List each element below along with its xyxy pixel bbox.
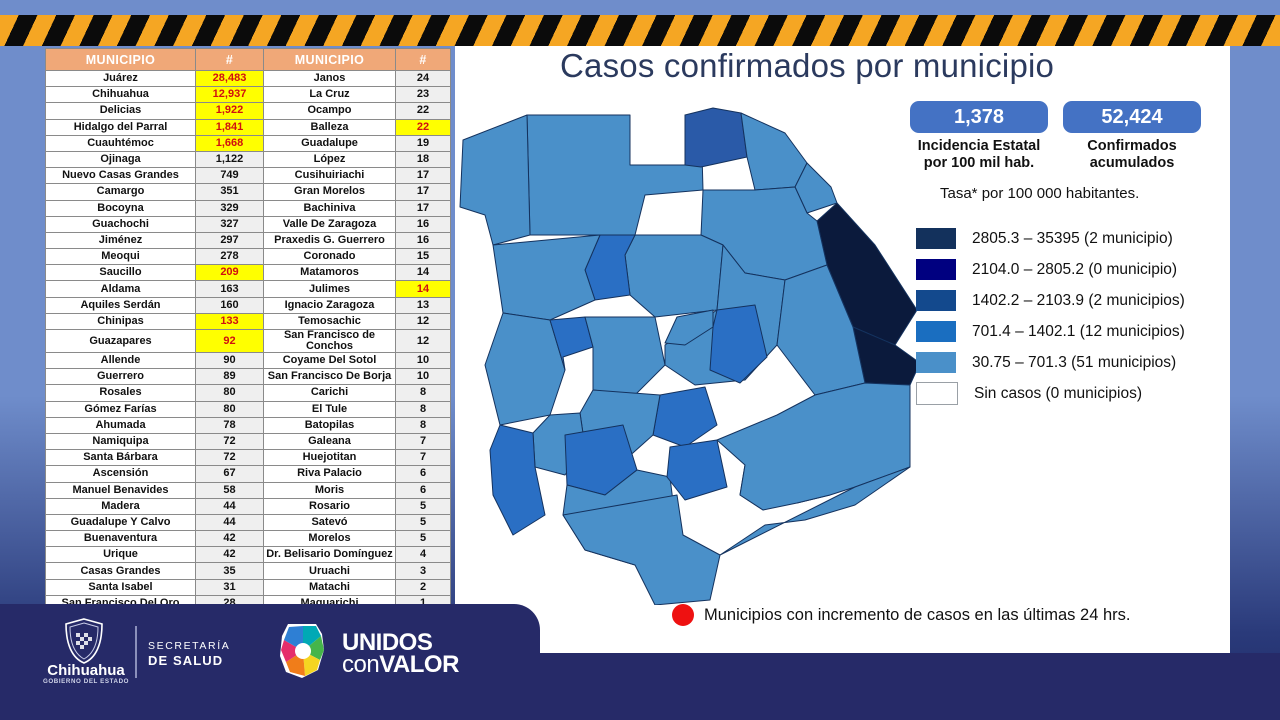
table-cell-municipio: Guerrero <box>46 369 196 385</box>
increase-note-text: Municipios con incremento de casos en la… <box>704 606 1130 625</box>
table-row: Chihuahua12,937La Cruz23 <box>46 87 451 103</box>
table-row: Chinipas133Temosachic12 <box>46 313 451 329</box>
table-cell-count: 14 <box>396 265 451 281</box>
table-cell-count: 23 <box>396 87 451 103</box>
chihuahua-subtitle: GOBIERNO DEL ESTADO <box>36 678 136 685</box>
table-cell-count: 80 <box>196 401 264 417</box>
table-cell-municipio: Madera <box>46 498 196 514</box>
table-cell-municipio: Valle De Zaragoza <box>264 216 396 232</box>
table-cell-municipio: El Tule <box>264 401 396 417</box>
table-cell-count: 8 <box>396 401 451 417</box>
secretaria-line2: DE SALUD <box>148 653 223 668</box>
table-cell-municipio: Huejotitan <box>264 450 396 466</box>
table-cell-municipio: Guazapares <box>46 330 196 353</box>
chihuahua-choropleth-map <box>455 95 925 605</box>
table-cell-count: 17 <box>396 184 451 200</box>
table-cell-municipio: Praxedis G. Guerrero <box>264 232 396 248</box>
chihuahua-shield-icon <box>64 618 104 664</box>
table-cell-municipio: Dr. Belisario Domínguez <box>264 547 396 563</box>
table-cell-municipio: Rosario <box>264 498 396 514</box>
table-cell-count: 72 <box>196 450 264 466</box>
table-cell-municipio: Coronado <box>264 249 396 265</box>
table-cell-municipio: Batopilas <box>264 417 396 433</box>
table-cell-municipio: Chinipas <box>46 313 196 329</box>
table-cell-count: 351 <box>196 184 264 200</box>
table-cell-municipio: Jiménez <box>46 232 196 248</box>
table-row: Guazapares92San Francisco de Conchos12 <box>46 330 451 353</box>
legend-label: 701.4 – 1402.1 (12 municipios) <box>972 323 1185 341</box>
table-column-header: MUNICIPIO <box>264 49 396 71</box>
table-cell-municipio: Matachi <box>264 579 396 595</box>
table-cell-municipio: Manuel Benavides <box>46 482 196 498</box>
table-cell-count: 16 <box>396 216 451 232</box>
table-cell-count: 7 <box>396 433 451 449</box>
red-dot-icon <box>672 604 694 626</box>
table-row: Meoqui278Coronado15 <box>46 249 451 265</box>
table-cell-municipio: Buenaventura <box>46 531 196 547</box>
table-cell-municipio: Balleza <box>264 119 396 135</box>
table-cell-count: 8 <box>396 417 451 433</box>
table-cell-municipio: Julimes <box>264 281 396 297</box>
table-column-header: # <box>196 49 264 71</box>
table-cell-municipio: Uruachi <box>264 563 396 579</box>
stat-caption-incidencia: Incidencia Estatal por 100 mil hab. <box>905 138 1053 172</box>
table-cell-municipio: López <box>264 151 396 167</box>
table-row: Gómez Farías80El Tule8 <box>46 401 451 417</box>
table-cell-municipio: Moris <box>264 482 396 498</box>
table-cell-municipio: Namiquipa <box>46 433 196 449</box>
legend-swatch <box>916 321 956 342</box>
table-row: Rosales80Carichi8 <box>46 385 451 401</box>
table-cell-municipio: Santa Isabel <box>46 579 196 595</box>
table-cell-count: 278 <box>196 249 264 265</box>
table-row: Juárez28,483Janos24 <box>46 71 451 87</box>
table-cell-count: 89 <box>196 369 264 385</box>
legend-row: 2104.0 – 2805.2 (0 municipio) <box>916 254 1185 285</box>
table-row: Ojinaga1,122López18 <box>46 151 451 167</box>
municipality-table: MUNICIPIO#MUNICIPIO# Juárez28,483Janos24… <box>45 48 451 628</box>
table-row: Casas Grandes35Uruachi3 <box>46 563 451 579</box>
legend-label: 2805.3 – 35395 (2 municipio) <box>972 230 1173 248</box>
table-row: Nuevo Casas Grandes749Cusihuiriachi17 <box>46 168 451 184</box>
table-cell-municipio: La Cruz <box>264 87 396 103</box>
table-row: Santa Isabel31Matachi2 <box>46 579 451 595</box>
table-cell-count: 7 <box>396 450 451 466</box>
table-cell-municipio: Chihuahua <box>46 87 196 103</box>
table-cell-count: 329 <box>196 200 264 216</box>
table-cell-count: 6 <box>396 466 451 482</box>
table-cell-count: 19 <box>396 135 451 151</box>
table-cell-municipio: Allende <box>46 353 196 369</box>
table-cell-municipio: Casas Grandes <box>46 563 196 579</box>
table-cell-municipio: Guadalupe Y Calvo <box>46 514 196 530</box>
table-cell-count: 16 <box>396 232 451 248</box>
table-cell-municipio: Morelos <box>264 531 396 547</box>
table-row: Urique42Dr. Belisario Domínguez4 <box>46 547 451 563</box>
table-cell-count: 80 <box>196 385 264 401</box>
table-cell-municipio: Galeana <box>264 433 396 449</box>
table-cell-count: 42 <box>196 531 264 547</box>
table-cell-count: 5 <box>396 514 451 530</box>
table-row: Ascensión67Riva Palacio6 <box>46 466 451 482</box>
table-cell-count: 58 <box>196 482 264 498</box>
table-row: Jiménez297Praxedis G. Guerrero16 <box>46 232 451 248</box>
table-cell-count: 42 <box>196 547 264 563</box>
table-column-header: # <box>396 49 451 71</box>
brand-con-valor: conVALOR <box>342 651 459 679</box>
table-cell-count: 17 <box>396 168 451 184</box>
stat-value-confirmados: 52,424 <box>1063 101 1201 133</box>
table-cell-count: 35 <box>196 563 264 579</box>
table-cell-municipio: Ocampo <box>264 103 396 119</box>
table-row: Aldama163Julimes14 <box>46 281 451 297</box>
table-cell-municipio: Ojinaga <box>46 151 196 167</box>
legend-row: 701.4 – 1402.1 (12 municipios) <box>916 316 1185 347</box>
table-cell-municipio: Matamoros <box>264 265 396 281</box>
table-row: Camargo351Gran Morelos17 <box>46 184 451 200</box>
table-row: Cuauhtémoc1,668Guadalupe19 <box>46 135 451 151</box>
table-cell-count: 209 <box>196 265 264 281</box>
legend-row: 1402.2 – 2103.9 (2 municipios) <box>916 285 1185 316</box>
table-cell-count: 12 <box>396 313 451 329</box>
increase-note: Municipios con incremento de casos en la… <box>672 604 1130 626</box>
legend-swatch <box>916 290 956 311</box>
table-row: Guachochi327Valle De Zaragoza16 <box>46 216 451 232</box>
table-cell-municipio: Hidalgo del Parral <box>46 119 196 135</box>
table-cell-count: 44 <box>196 498 264 514</box>
table-cell-municipio: Saucillo <box>46 265 196 281</box>
table-row: Delicias1,922Ocampo22 <box>46 103 451 119</box>
legend-swatch <box>916 382 958 405</box>
stat-caption-confirmados: Confirmados acumulados <box>1058 138 1206 172</box>
table-row: Namiquipa72Galeana7 <box>46 433 451 449</box>
table-cell-municipio: Aquiles Serdán <box>46 297 196 313</box>
table-cell-municipio: Camargo <box>46 184 196 200</box>
table-cell-municipio: Bocoyna <box>46 200 196 216</box>
table-row: Guadalupe Y Calvo44Satevó5 <box>46 514 451 530</box>
table-cell-count: 1,922 <box>196 103 264 119</box>
table-cell-municipio: Santa Bárbara <box>46 450 196 466</box>
table-cell-count: 22 <box>396 119 451 135</box>
table-cell-municipio: Nuevo Casas Grandes <box>46 168 196 184</box>
table-row: Bocoyna329Bachiniva17 <box>46 200 451 216</box>
table-cell-count: 14 <box>396 281 451 297</box>
table-cell-municipio: Gómez Farías <box>46 401 196 417</box>
legend-label: Sin casos (0 municipios) <box>974 385 1142 403</box>
legend-row: 30.75 – 701.3 (51 municipios) <box>916 347 1185 378</box>
table-cell-municipio: Guachochi <box>46 216 196 232</box>
page-title: Casos confirmados por municipio <box>560 47 1220 85</box>
table-cell-count: 5 <box>396 498 451 514</box>
brand-valor: VALOR <box>379 651 459 678</box>
table-cell-municipio: Cuauhtémoc <box>46 135 196 151</box>
legend-row: 2805.3 – 35395 (2 municipio) <box>916 223 1185 254</box>
table-cell-count: 67 <box>196 466 264 482</box>
table-cell-municipio: Bachiniva <box>264 200 396 216</box>
table-cell-municipio: Satevó <box>264 514 396 530</box>
table-cell-count: 92 <box>196 330 264 353</box>
table-row: Santa Bárbara72Huejotitan7 <box>46 450 451 466</box>
table-cell-count: 1,122 <box>196 151 264 167</box>
chihuahua-wordmark: Chihuahua <box>36 662 136 679</box>
table-row: Saucillo209Matamoros14 <box>46 265 451 281</box>
table-cell-municipio: Guadalupe <box>264 135 396 151</box>
map-legend: 2805.3 – 35395 (2 municipio)2104.0 – 280… <box>916 223 1185 409</box>
table-cell-count: 22 <box>396 103 451 119</box>
footer-divider <box>135 626 137 678</box>
table-row: Manuel Benavides58Moris6 <box>46 482 451 498</box>
table-cell-count: 44 <box>196 514 264 530</box>
table-header-row: MUNICIPIO#MUNICIPIO# <box>46 49 451 71</box>
table-cell-count: 133 <box>196 313 264 329</box>
table-cell-municipio: Carichi <box>264 385 396 401</box>
page-title-tail: municipio <box>913 47 1054 84</box>
table-cell-count: 12 <box>396 330 451 353</box>
table-cell-municipio: Janos <box>264 71 396 87</box>
table-row: Aquiles Serdán160Ignacio Zaragoza13 <box>46 297 451 313</box>
legend-label: 30.75 – 701.3 (51 municipios) <box>972 354 1176 372</box>
table-cell-count: 4 <box>396 547 451 563</box>
table-row: Hidalgo del Parral1,841Balleza22 <box>46 119 451 135</box>
legend-row: Sin casos (0 municipios) <box>916 378 1185 409</box>
table-cell-municipio: Rosales <box>46 385 196 401</box>
table-cell-municipio: Ignacio Zaragoza <box>264 297 396 313</box>
table-cell-count: 28,483 <box>196 71 264 87</box>
unidos-con-valor-map-icon <box>272 620 334 682</box>
table-cell-count: 78 <box>196 417 264 433</box>
table-cell-municipio: Cusihuiriachi <box>264 168 396 184</box>
table-cell-count: 13 <box>396 297 451 313</box>
table-cell-municipio: San Francisco De Borja <box>264 369 396 385</box>
table-cell-count: 160 <box>196 297 264 313</box>
table-cell-municipio: Gran Morelos <box>264 184 396 200</box>
stat-value-incidencia: 1,378 <box>910 101 1048 133</box>
table-cell-count: 749 <box>196 168 264 184</box>
table-cell-count: 327 <box>196 216 264 232</box>
table-cell-count: 297 <box>196 232 264 248</box>
table-cell-count: 6 <box>396 482 451 498</box>
table-cell-count: 163 <box>196 281 264 297</box>
table-cell-municipio: Temosachic <box>264 313 396 329</box>
table-cell-municipio: Juárez <box>46 71 196 87</box>
table-cell-count: 1,668 <box>196 135 264 151</box>
table-cell-count: 18 <box>396 151 451 167</box>
legend-label: 1402.2 – 2103.9 (2 municipios) <box>972 292 1185 310</box>
legend-swatch <box>916 259 956 280</box>
table-row: Madera44Rosario5 <box>46 498 451 514</box>
rate-note: Tasa* por 100 000 habitantes. <box>940 185 1139 202</box>
table-cell-count: 10 <box>396 369 451 385</box>
table-cell-count: 72 <box>196 433 264 449</box>
table-row: Ahumada78Batopilas8 <box>46 417 451 433</box>
table-column-header: MUNICIPIO <box>46 49 196 71</box>
table-cell-count: 1,841 <box>196 119 264 135</box>
secretaria-line1: SECRETARÍA <box>148 640 230 652</box>
municipality-table-wrapper: MUNICIPIO#MUNICIPIO# Juárez28,483Janos24… <box>45 48 450 628</box>
table-cell-count: 15 <box>396 249 451 265</box>
table-row: Allende90Coyame Del Sotol10 <box>46 353 451 369</box>
legend-label: 2104.0 – 2805.2 (0 municipio) <box>972 261 1177 279</box>
hazard-stripe-banner <box>0 15 1280 46</box>
table-cell-count: 12,937 <box>196 87 264 103</box>
table-cell-count: 8 <box>396 385 451 401</box>
table-cell-count: 90 <box>196 353 264 369</box>
table-row: Guerrero89San Francisco De Borja10 <box>46 369 451 385</box>
table-cell-count: 24 <box>396 71 451 87</box>
table-cell-municipio: Ahumada <box>46 417 196 433</box>
table-cell-municipio: Aldama <box>46 281 196 297</box>
table-cell-municipio: Riva Palacio <box>264 466 396 482</box>
brand-con: con <box>342 651 379 678</box>
table-cell-count: 5 <box>396 531 451 547</box>
table-cell-count: 17 <box>396 200 451 216</box>
table-cell-municipio: Ascensión <box>46 466 196 482</box>
table-cell-count: 10 <box>396 353 451 369</box>
table-cell-municipio: San Francisco de Conchos <box>264 330 396 353</box>
table-row: Buenaventura42Morelos5 <box>46 531 451 547</box>
table-cell-municipio: Meoqui <box>46 249 196 265</box>
legend-swatch <box>916 352 956 373</box>
page-title-main: Casos confirmados por <box>560 47 913 84</box>
table-cell-count: 2 <box>396 579 451 595</box>
table-cell-municipio: Urique <box>46 547 196 563</box>
table-cell-count: 3 <box>396 563 451 579</box>
table-body: Juárez28,483Janos24Chihuahua12,937La Cru… <box>46 71 451 628</box>
table-cell-count: 31 <box>196 579 264 595</box>
table-cell-municipio: Delicias <box>46 103 196 119</box>
table-cell-municipio: Coyame Del Sotol <box>264 353 396 369</box>
legend-swatch <box>916 228 956 249</box>
